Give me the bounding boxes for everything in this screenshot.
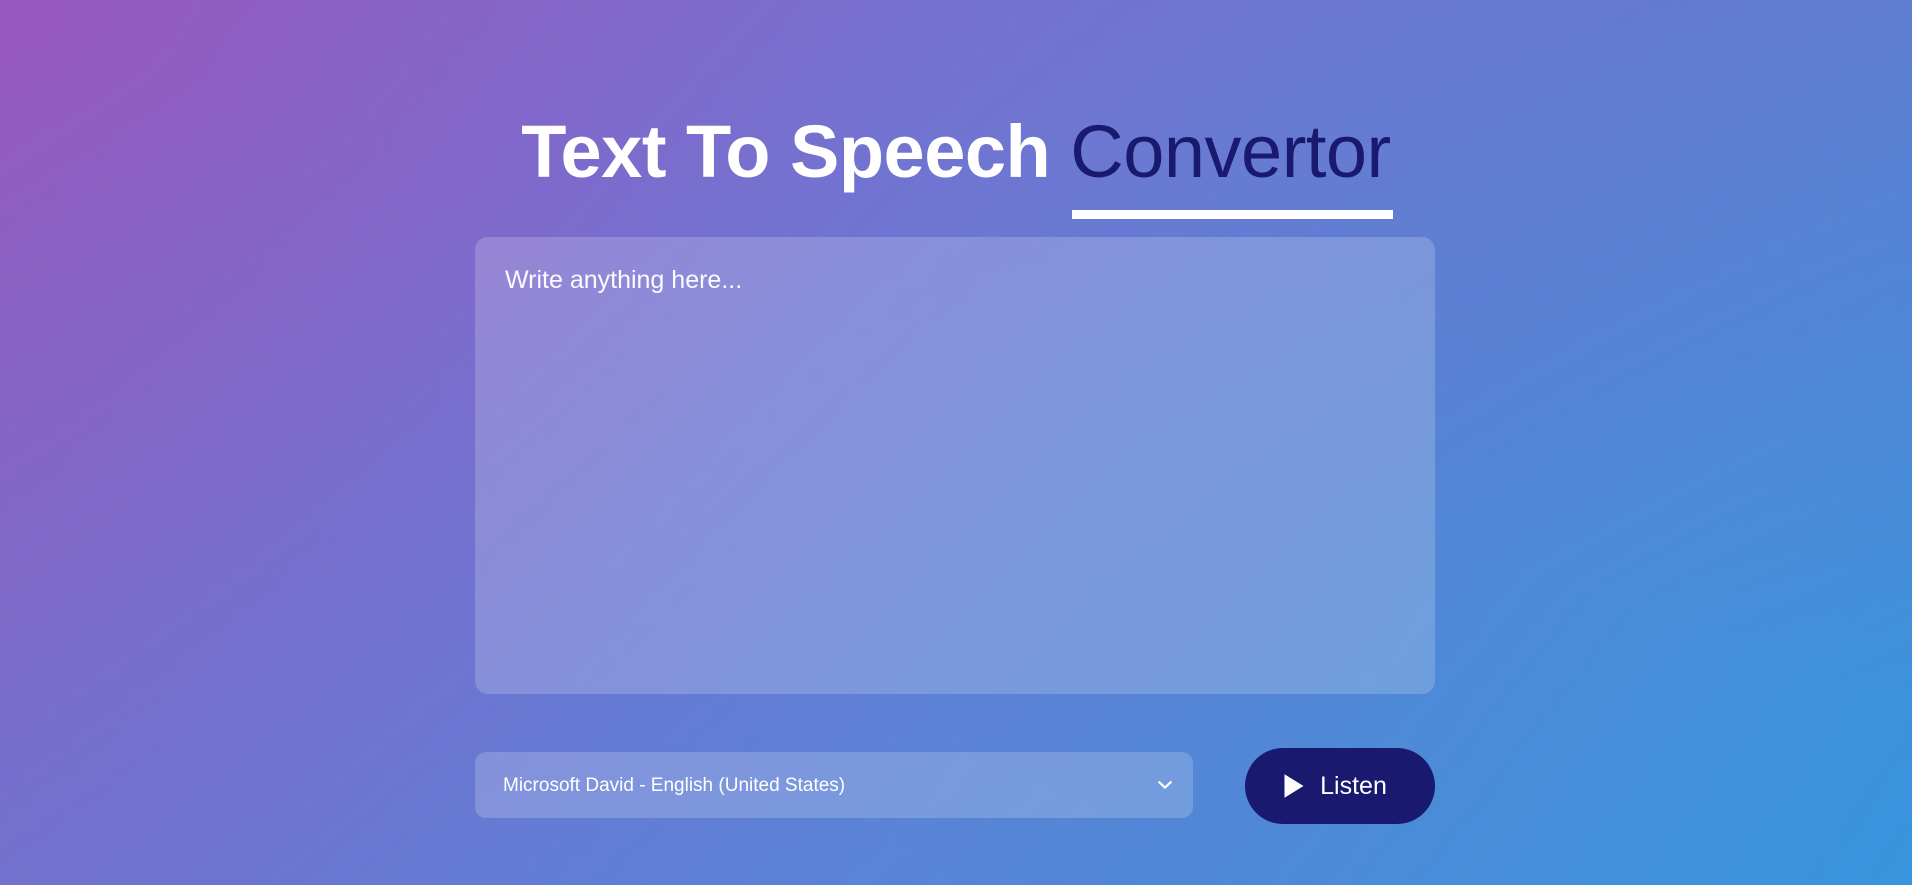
page-title-accent: Convertor xyxy=(1070,110,1390,197)
controls-row: Microsoft David - English (United States… xyxy=(475,752,1435,830)
page-title-primary: Text To Speech xyxy=(521,110,1050,193)
voice-select[interactable]: Microsoft David - English (United States… xyxy=(475,752,1193,818)
title-underline-bar xyxy=(1072,210,1392,219)
play-icon xyxy=(1283,773,1305,799)
page-title-space xyxy=(1050,110,1070,193)
page-title-accent-text: Convertor xyxy=(1070,110,1390,193)
voice-select-wrapper: Microsoft David - English (United States… xyxy=(475,752,1193,818)
text-input-area[interactable] xyxy=(475,237,1435,694)
listen-button[interactable]: Listen xyxy=(1245,748,1435,824)
app-root: Text To Speech Convertor Microsoft David… xyxy=(0,0,1912,885)
page-title: Text To Speech Convertor xyxy=(0,105,1912,199)
listen-button-label: Listen xyxy=(1320,774,1387,799)
